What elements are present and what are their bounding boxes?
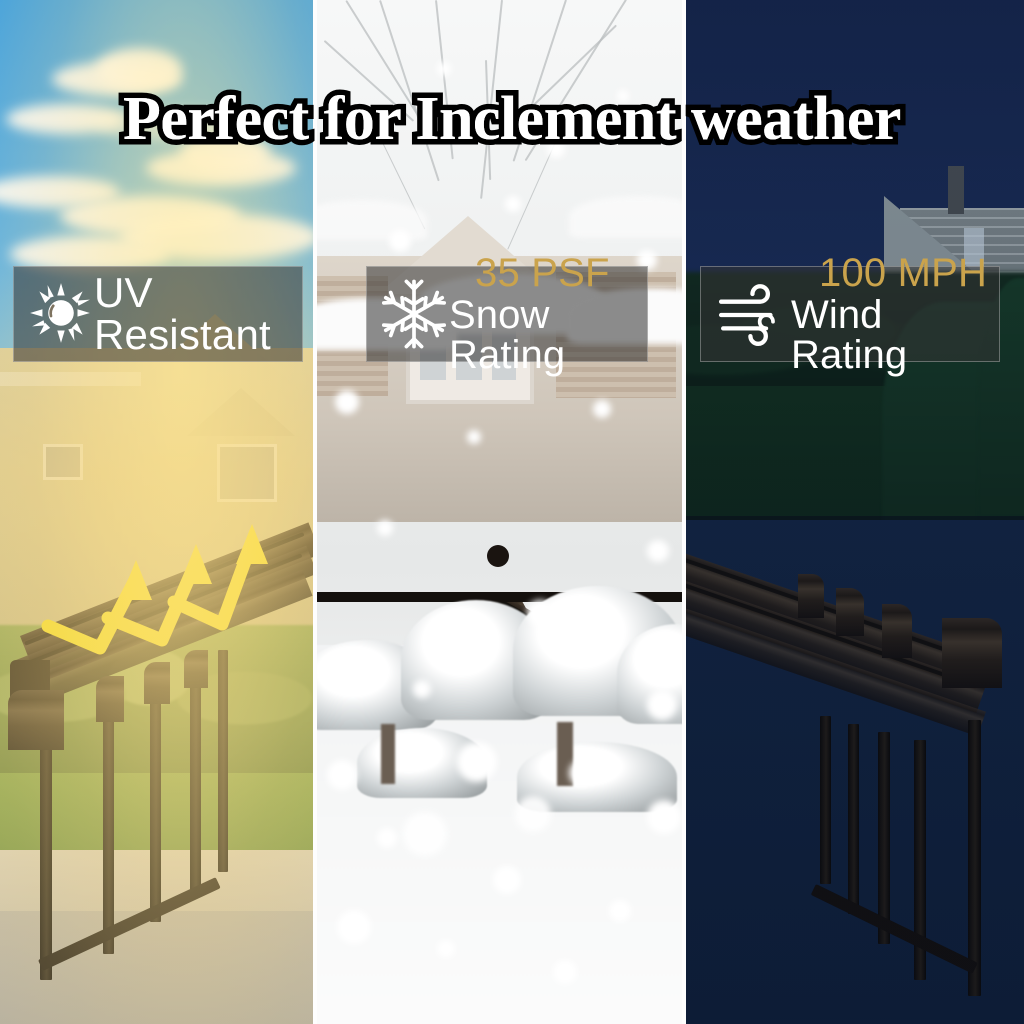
badge-snow-text: 35 PSF Snow Rating: [449, 253, 639, 375]
snowflake-icon: [379, 276, 449, 352]
badge-uv-text: UV Resistant: [94, 272, 292, 356]
badge-snow-value: 35 PSF: [475, 253, 639, 293]
badge-wind-text: 100 MPH Wind Rating: [791, 253, 991, 375]
badge-uv-label: UV Resistant: [94, 272, 292, 356]
sun-icon: [28, 281, 94, 347]
badge-wind-rating: 100 MPH Wind Rating: [700, 266, 1000, 362]
badge-wind-label: Wind Rating: [791, 295, 991, 375]
page-title: Perfect for Inclement weather: [0, 84, 1024, 155]
wind-icon: [717, 277, 791, 351]
badge-wind-value: 100 MPH: [819, 253, 991, 293]
badge-snow-rating: 35 PSF Snow Rating: [366, 266, 648, 362]
product-feature-image: Perfect for Inclement weather Perfect fo…: [0, 0, 1024, 1024]
badge-snow-label: Snow Rating: [449, 295, 639, 375]
badge-uv-resistant: UV Resistant: [13, 266, 303, 362]
